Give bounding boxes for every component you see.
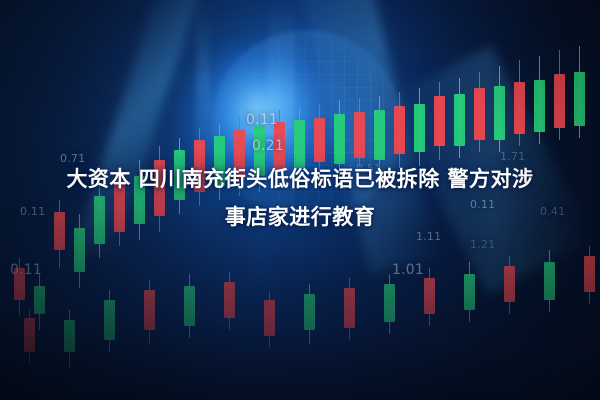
headline-text: 大资本 四川南充街头低俗标语已被拆除 警方对涉 事店家进行教育 bbox=[0, 160, 600, 236]
headline-line-1: 大资本 四川南充街头低俗标语已被拆除 警方对涉 bbox=[8, 160, 592, 198]
headline-line-2: 事店家进行教育 bbox=[8, 198, 592, 236]
news-thumbnail-image: 0.210.110.710.110.111.011.110.111.210.41… bbox=[0, 0, 600, 400]
